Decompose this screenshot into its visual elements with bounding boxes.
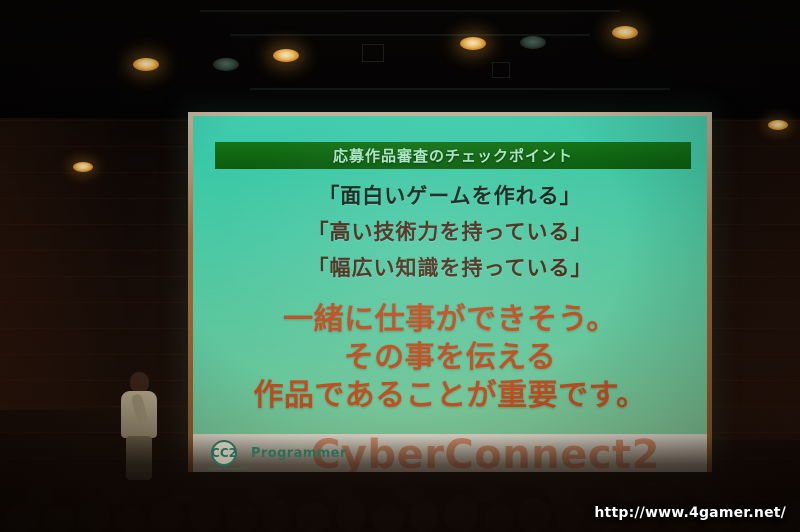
- audience-head: [116, 506, 144, 532]
- audience-head: [548, 482, 574, 504]
- brand-role-label: Programmer: [251, 446, 347, 461]
- audience-head: [6, 502, 40, 532]
- slide-headline-line: その事を伝える: [193, 339, 707, 377]
- ceiling-lamp: [73, 162, 93, 172]
- audience-head: [226, 504, 258, 532]
- audience-head: [372, 504, 404, 532]
- audience-head: [444, 494, 478, 532]
- projector-light-falloff: [193, 116, 707, 472]
- audience-head: [296, 502, 330, 532]
- wall-left-shading: [0, 110, 150, 410]
- audience-head: [324, 478, 352, 502]
- slide-quote-line: 「面白いゲームを作れる」: [193, 178, 707, 214]
- ceiling-rig: [0, 0, 800, 118]
- audience-head: [250, 482, 276, 504]
- slide-quote-line: 「幅広い知識を持っている」: [193, 250, 707, 286]
- audience-head: [472, 478, 500, 502]
- cyberconnect2-logo-icon: CC2: [211, 440, 237, 466]
- slide-quote-list: 「面白いゲームを作れる」 「高い技術力を持っている」 「幅広い知識を持っている」: [193, 178, 707, 286]
- ceiling-lamp: [273, 49, 299, 62]
- slide-headline-block: 一緒に仕事ができそう。 その事を伝える 作品であることが重要です。: [193, 301, 707, 415]
- projection-screen-frame: 応募作品審査のチェックポイント 「面白いゲームを作れる」 「高い技術力を持ってい…: [188, 112, 712, 472]
- audience-head: [398, 482, 424, 504]
- truss-beam: [362, 44, 384, 62]
- audience-head: [620, 478, 648, 502]
- truss-beam: [492, 62, 510, 78]
- presentation-slide: 応募作品審査のチェックポイント 「面白いゲームを作れる」 「高い技術力を持ってい…: [193, 116, 707, 472]
- ceiling-lamp: [460, 37, 486, 50]
- slide-headline-line: 一緒に仕事ができそう。: [193, 301, 707, 339]
- audience-head: [150, 500, 184, 532]
- slide-headline-line: 作品であることが重要です。: [193, 377, 707, 415]
- cyberconnect2-logo-caption: CyberConnect2: [209, 466, 247, 471]
- audience-head: [172, 478, 200, 502]
- site-watermark: http://www.4gamer.net/: [594, 505, 786, 521]
- audience-head: [556, 502, 584, 532]
- truss-beam: [250, 88, 670, 90]
- audience-head: [44, 506, 74, 532]
- audience-head: [518, 498, 550, 532]
- audience-head: [98, 482, 124, 504]
- presenter-head: [130, 372, 149, 393]
- audience-head: [410, 500, 438, 532]
- slide-title-bar: 応募作品審査のチェックポイント: [215, 142, 691, 169]
- ceiling-lamp: [768, 120, 788, 130]
- ceiling-lamp: [612, 26, 638, 39]
- audience-head: [26, 482, 54, 506]
- slide-quote-line: 「高い技術力を持っている」: [193, 214, 707, 250]
- ceiling-lamp-off: [213, 58, 239, 71]
- ceiling-lamp: [133, 58, 159, 71]
- ceiling-lamp-off: [520, 36, 546, 49]
- audience-head: [484, 504, 514, 532]
- truss-beam: [200, 10, 620, 12]
- audience-head: [696, 482, 722, 504]
- slide-title: 応募作品審査のチェックポイント: [333, 145, 573, 166]
- conference-photo: 応募作品審査のチェックポイント 「面白いゲームを作れる」 「高い技術力を持ってい…: [0, 0, 800, 532]
